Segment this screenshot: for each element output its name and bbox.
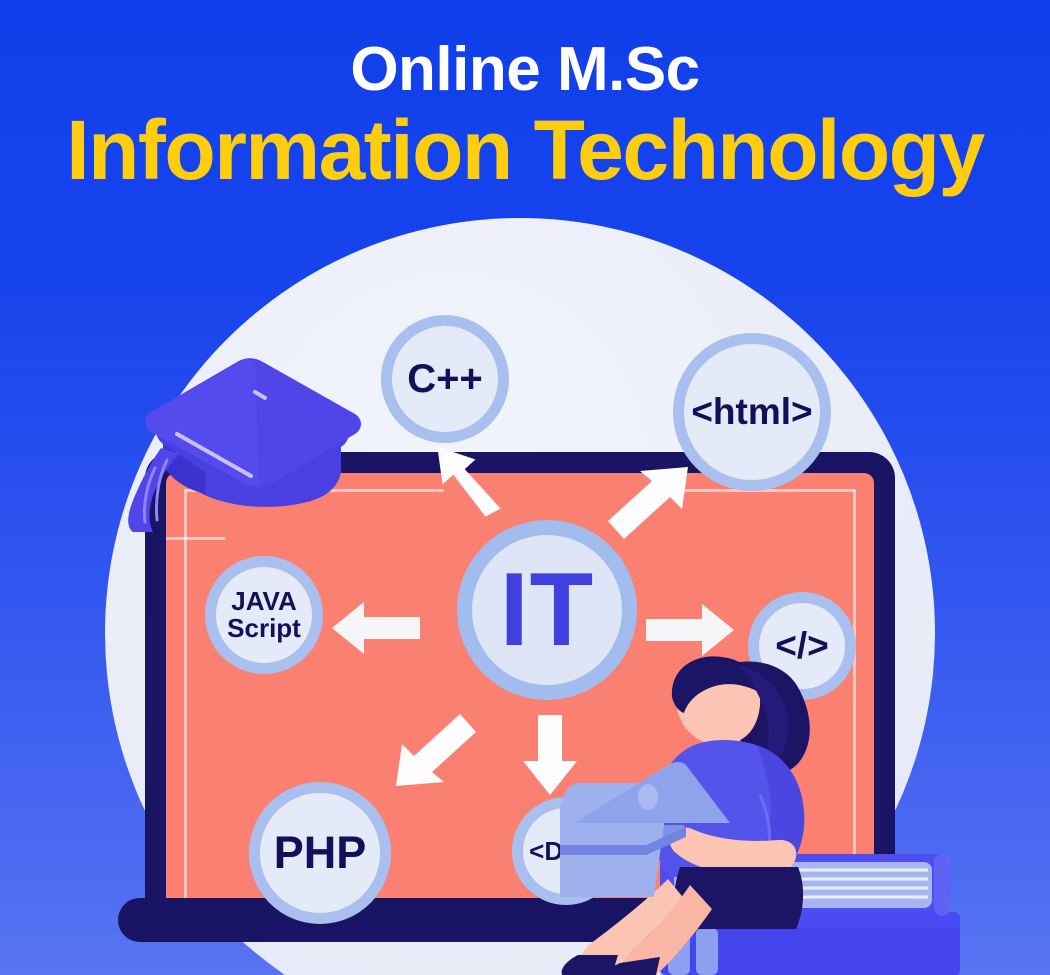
arrow-left [330, 600, 422, 656]
woman-with-laptop-illustration [560, 655, 910, 975]
headline-top: Online M.Sc [0, 38, 1050, 102]
page-title: Online M.Sc Information Technology [0, 38, 1050, 195]
bubble-html[interactable]: <html> [673, 333, 831, 491]
arrow-icon [606, 465, 692, 541]
bubble-html-label: <html> [691, 393, 812, 431]
arrow-up-left [438, 438, 508, 518]
bubble-php-label: PHP [274, 830, 367, 876]
bubble-cpp[interactable]: C++ [381, 315, 509, 443]
headline-main: Information Technology [0, 106, 1050, 194]
bubble-javascript-line1: JAVA [227, 588, 301, 615]
bubble-javascript[interactable]: JAVA Script [205, 556, 323, 674]
arrow-right [644, 602, 736, 658]
bubble-php[interactable]: PHP [249, 782, 391, 924]
bubble-javascript-labels: JAVA Script [227, 588, 301, 641]
person-icon [560, 655, 910, 975]
poster-canvas: Online M.Sc Information Technology [0, 0, 1050, 975]
arrow-icon [330, 600, 422, 656]
bubble-it-label: IT [500, 558, 594, 662]
arrow-up-right [606, 465, 692, 541]
screen-accent-line-left [184, 489, 187, 902]
arrow-icon [644, 602, 736, 658]
graduation-cap-icon [105, 352, 375, 532]
graduation-cap-illustration [105, 352, 375, 532]
bubble-javascript-line2: Script [227, 615, 301, 642]
arrow-icon [392, 706, 478, 790]
arrow-down-left [392, 706, 478, 790]
screen-accent-line-short [166, 537, 226, 540]
bubble-cpp-label: C++ [407, 359, 483, 400]
arrow-icon [438, 438, 508, 518]
